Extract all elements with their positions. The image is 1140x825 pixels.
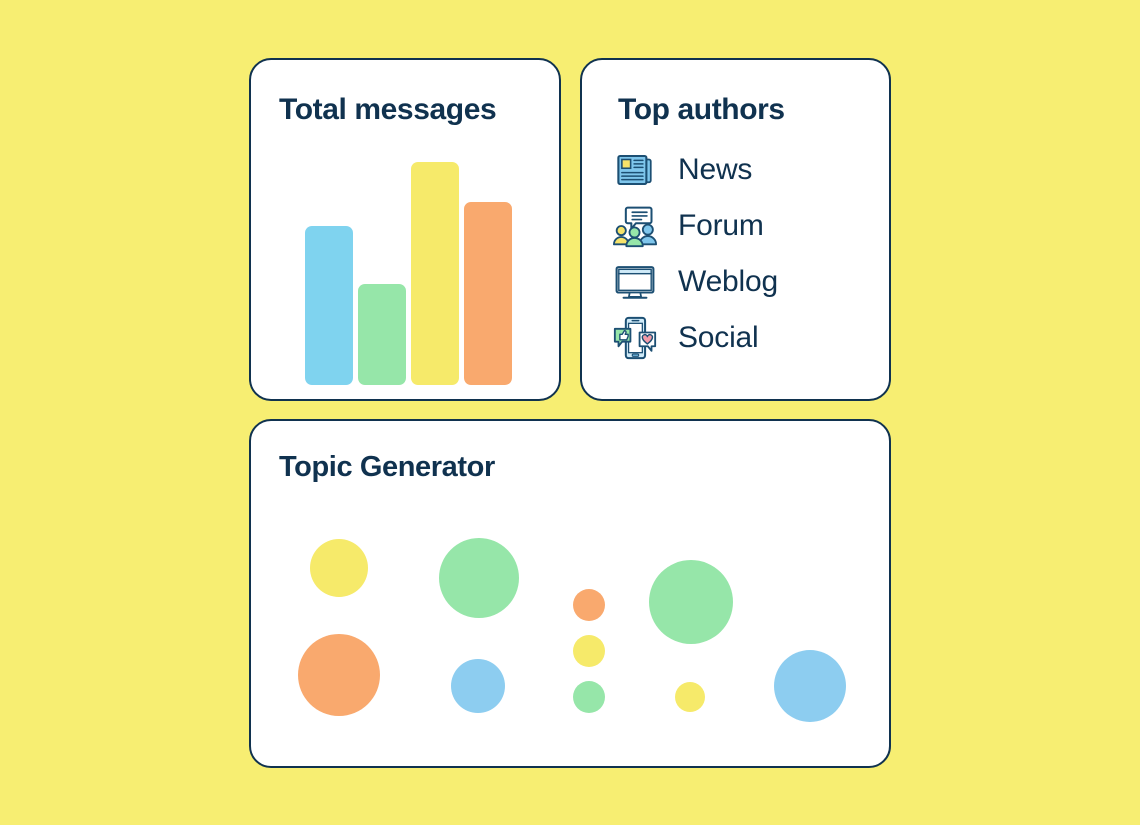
dashboard-canvas: Total messages Top authors News [0,0,1140,825]
topic-bubble[interactable] [774,650,846,722]
topic-bubble[interactable] [573,681,605,713]
topic-bubble-cloud [0,0,1140,825]
topic-bubble[interactable] [298,634,380,716]
topic-bubble[interactable] [573,635,605,667]
topic-bubble[interactable] [451,659,505,713]
topic-bubble[interactable] [439,538,519,618]
topic-bubble[interactable] [649,560,733,644]
topic-bubble[interactable] [573,589,605,621]
topic-bubble[interactable] [675,682,705,712]
topic-bubble[interactable] [310,539,368,597]
